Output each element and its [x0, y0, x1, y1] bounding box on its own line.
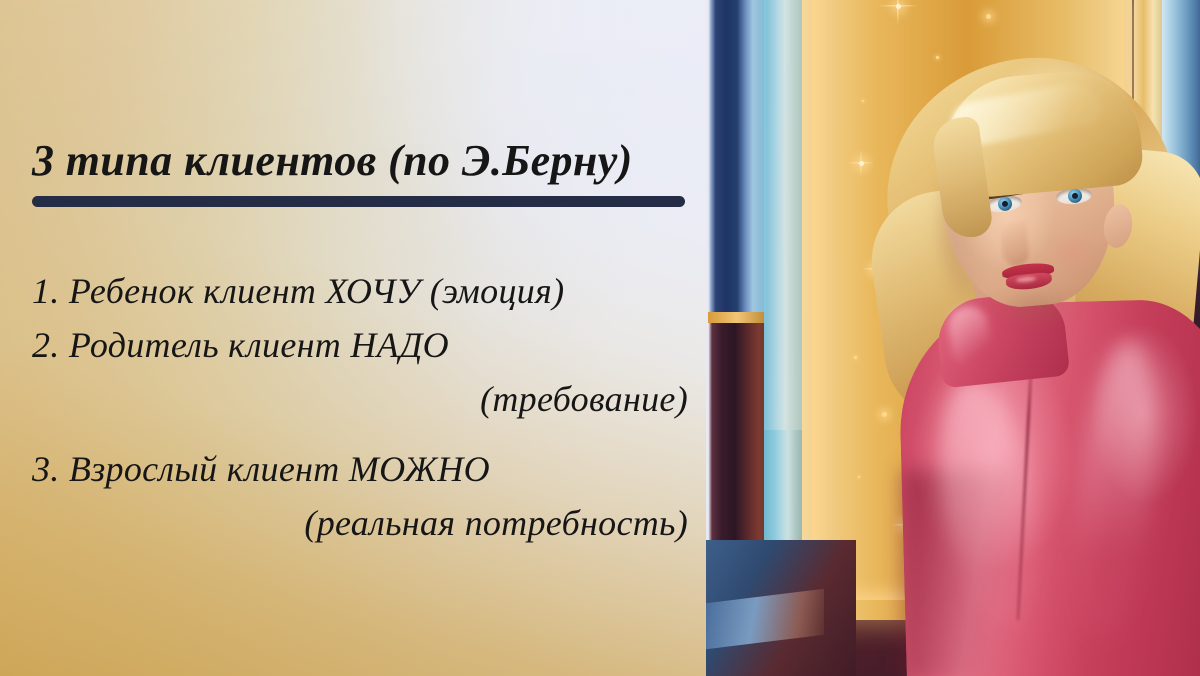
slide-canvas: 3 типа клиентов (по Э.Берну) 1. Ребенок …	[0, 0, 1200, 676]
list-item: 3. Взрослый клиент МОЖНО	[32, 442, 694, 496]
woman-figure	[706, 0, 1200, 676]
title-block: 3 типа клиентов (по Э.Берну)	[32, 138, 692, 207]
iris-right	[1067, 188, 1082, 203]
iris-left	[997, 196, 1013, 212]
nose	[1000, 221, 1030, 267]
client-types-list: 1. Ребенок клиент ХОЧУ (эмоция) 2. Родит…	[32, 264, 694, 550]
list-item: 2. Родитель клиент НАДО	[32, 318, 694, 372]
title-underline-rule	[32, 196, 685, 207]
page-title: 3 типа клиентов (по Э.Берну)	[32, 138, 692, 185]
list-item: (требование)	[32, 372, 694, 426]
chin-shadow	[988, 290, 1078, 324]
list-item: 1. Ребенок клиент ХОЧУ (эмоция)	[32, 264, 694, 318]
list-item: (реальная потребность)	[32, 496, 694, 550]
text-panel: 3 типа клиентов (по Э.Берну) 1. Ребенок …	[0, 0, 706, 676]
illustration-image	[706, 0, 1200, 676]
cheek-blush	[1050, 236, 1096, 270]
